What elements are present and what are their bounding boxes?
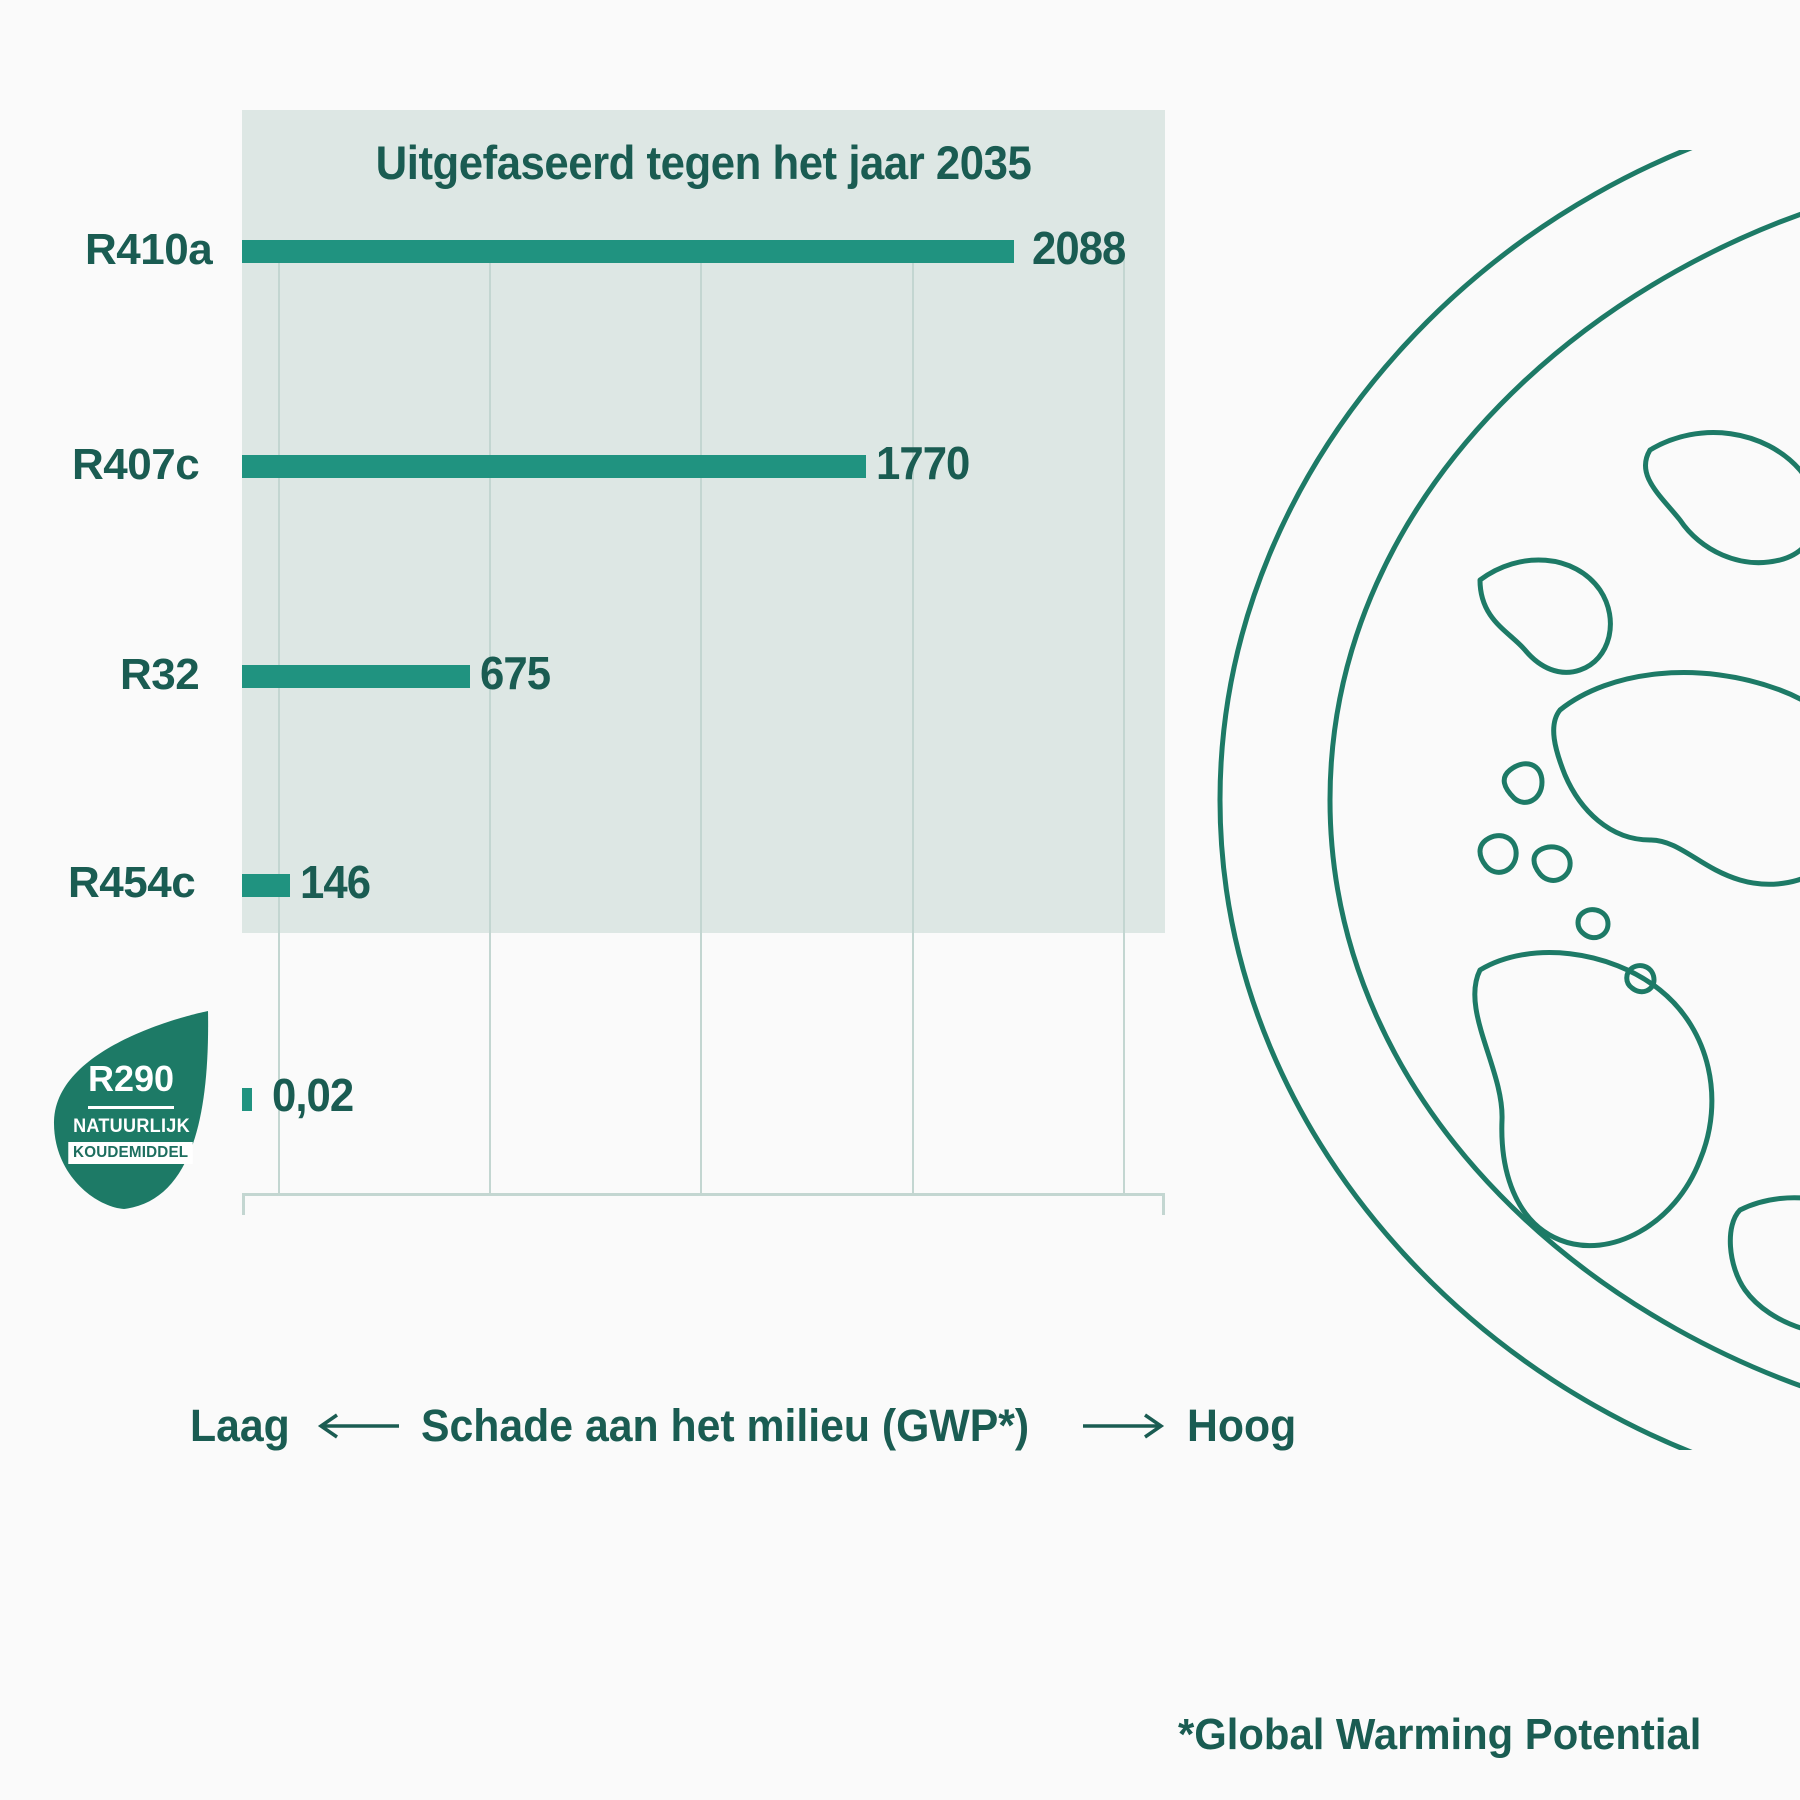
bar-r290 <box>242 1088 252 1111</box>
value-label-r32: 675 <box>480 646 550 700</box>
badge-code: R290 <box>88 1061 174 1097</box>
gridline-1000 <box>489 258 491 1195</box>
globe-outline-icon <box>1180 150 1800 1450</box>
gridline-2500 <box>1123 258 1125 1195</box>
bar-r32 <box>242 665 470 688</box>
x-axis-low-label: Laag <box>190 1400 290 1452</box>
x-axis-caption: Laag Schade aan het milieu (GWP*) Hoog <box>190 1400 1302 1452</box>
value-label-r407c: 1770 <box>876 436 969 490</box>
x-axis-title: Schade aan het milieu (GWP*) <box>421 1400 1029 1452</box>
value-label-r454c: 146 <box>300 855 370 909</box>
bar-r407c <box>242 455 866 478</box>
category-label-r454c: R454c <box>68 858 195 908</box>
globe-icon <box>1180 150 1800 1450</box>
category-label-r410a: R410a <box>85 225 212 275</box>
badge-divider <box>88 1106 174 1109</box>
x-axis-baseline <box>242 1193 1165 1196</box>
right-arrow-icon <box>1081 1409 1167 1443</box>
gridline-500 <box>278 258 280 1195</box>
value-label-r290: 0,02 <box>272 1068 353 1122</box>
category-label-r32: R32 <box>120 650 199 700</box>
infographic-canvas: Uitgefaseerd tegen het jaar 2035 R410a 2… <box>0 0 1800 1800</box>
badge-line-1: NATUURLIJK <box>73 1117 190 1136</box>
category-label-r407c: R407c <box>72 440 199 490</box>
badge-line-2: KOUDEMIDDEL <box>69 1142 194 1164</box>
gridline-1500 <box>700 258 702 1195</box>
left-arrow-icon <box>315 1409 401 1443</box>
x-axis-high-label: Hoog <box>1187 1400 1296 1452</box>
leaf-icon: R290 NATUURLIJK KOUDEMIDDEL <box>48 1005 214 1213</box>
x-axis-tick-left <box>242 1193 245 1215</box>
footnote: *Global Warming Potential <box>1178 1710 1701 1760</box>
phase-out-highlight-band <box>242 110 1165 933</box>
gridline-2000 <box>912 258 914 1195</box>
x-axis-tick-right <box>1162 1193 1165 1215</box>
bar-r410a <box>242 240 1014 263</box>
chart-title: Uitgefaseerd tegen het jaar 2035 <box>274 135 1132 190</box>
bar-r454c <box>242 874 290 897</box>
value-label-r410a: 2088 <box>1032 221 1125 275</box>
